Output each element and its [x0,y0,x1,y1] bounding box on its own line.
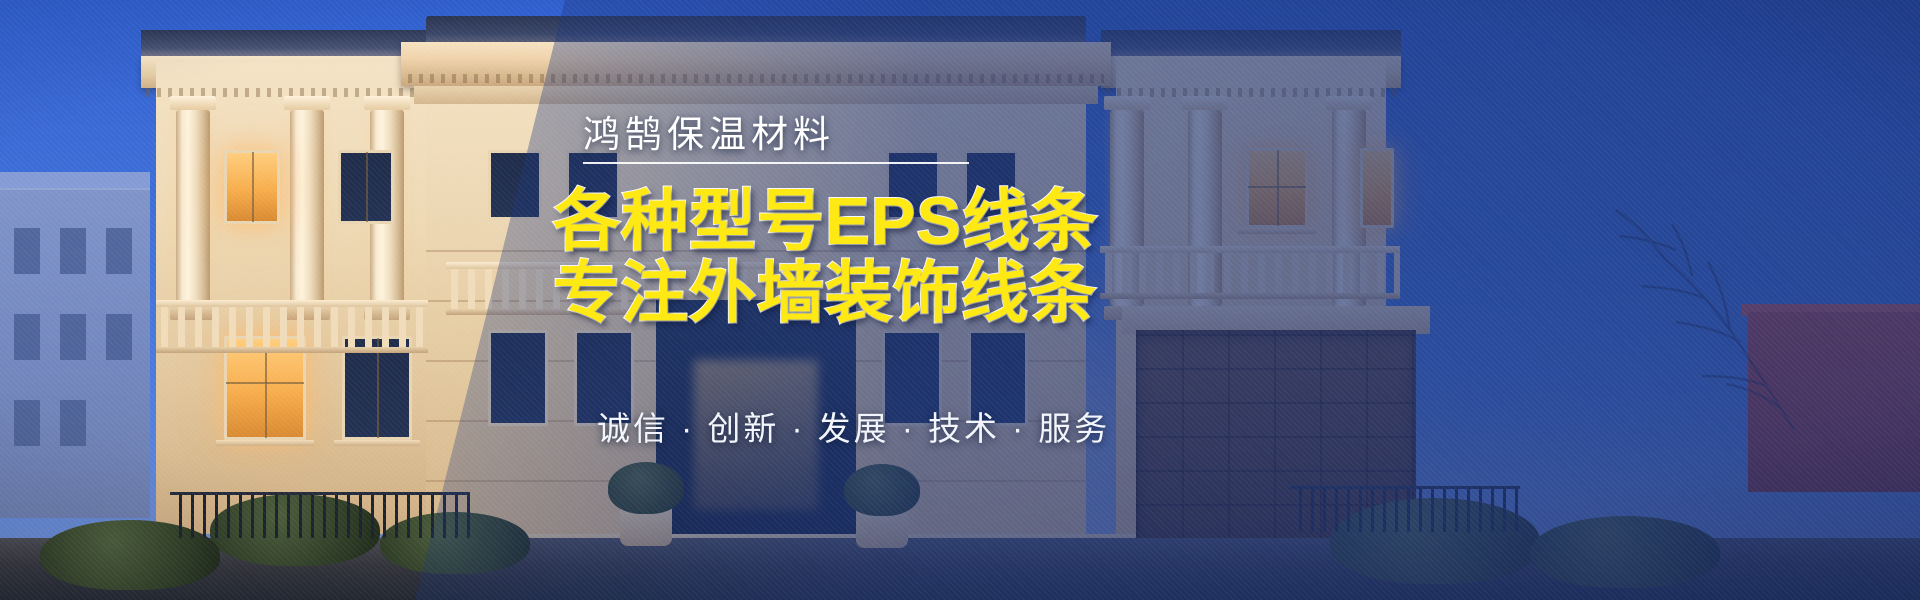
window [488,150,542,220]
fence-railing [170,492,470,538]
headline-line-2: 专注外墙装饰线条 [553,258,1097,330]
bare-tree [1580,180,1800,440]
tagline: 诚信 · 创新 · 发展 · 技术 · 服务 [597,402,1110,450]
banner-copy: 鸿鹄保温材料 各种型号EPS线条 专注外墙装饰线条 诚信 · 创新 · 发展 ·… [583,0,1483,600]
brand-name: 鸿鹄保温材料 [583,104,835,158]
roof-left-wing [141,30,441,56]
window [488,330,548,426]
divider-rule [583,162,969,164]
shrub [1530,516,1720,588]
promotional-banner: 鸿鹄保温材料 各种型号EPS线条 专注外墙装饰线条 诚信 · 创新 · 发展 ·… [0,0,1920,600]
headline-line-1: 各种型号EPS线条 [553,186,1098,258]
